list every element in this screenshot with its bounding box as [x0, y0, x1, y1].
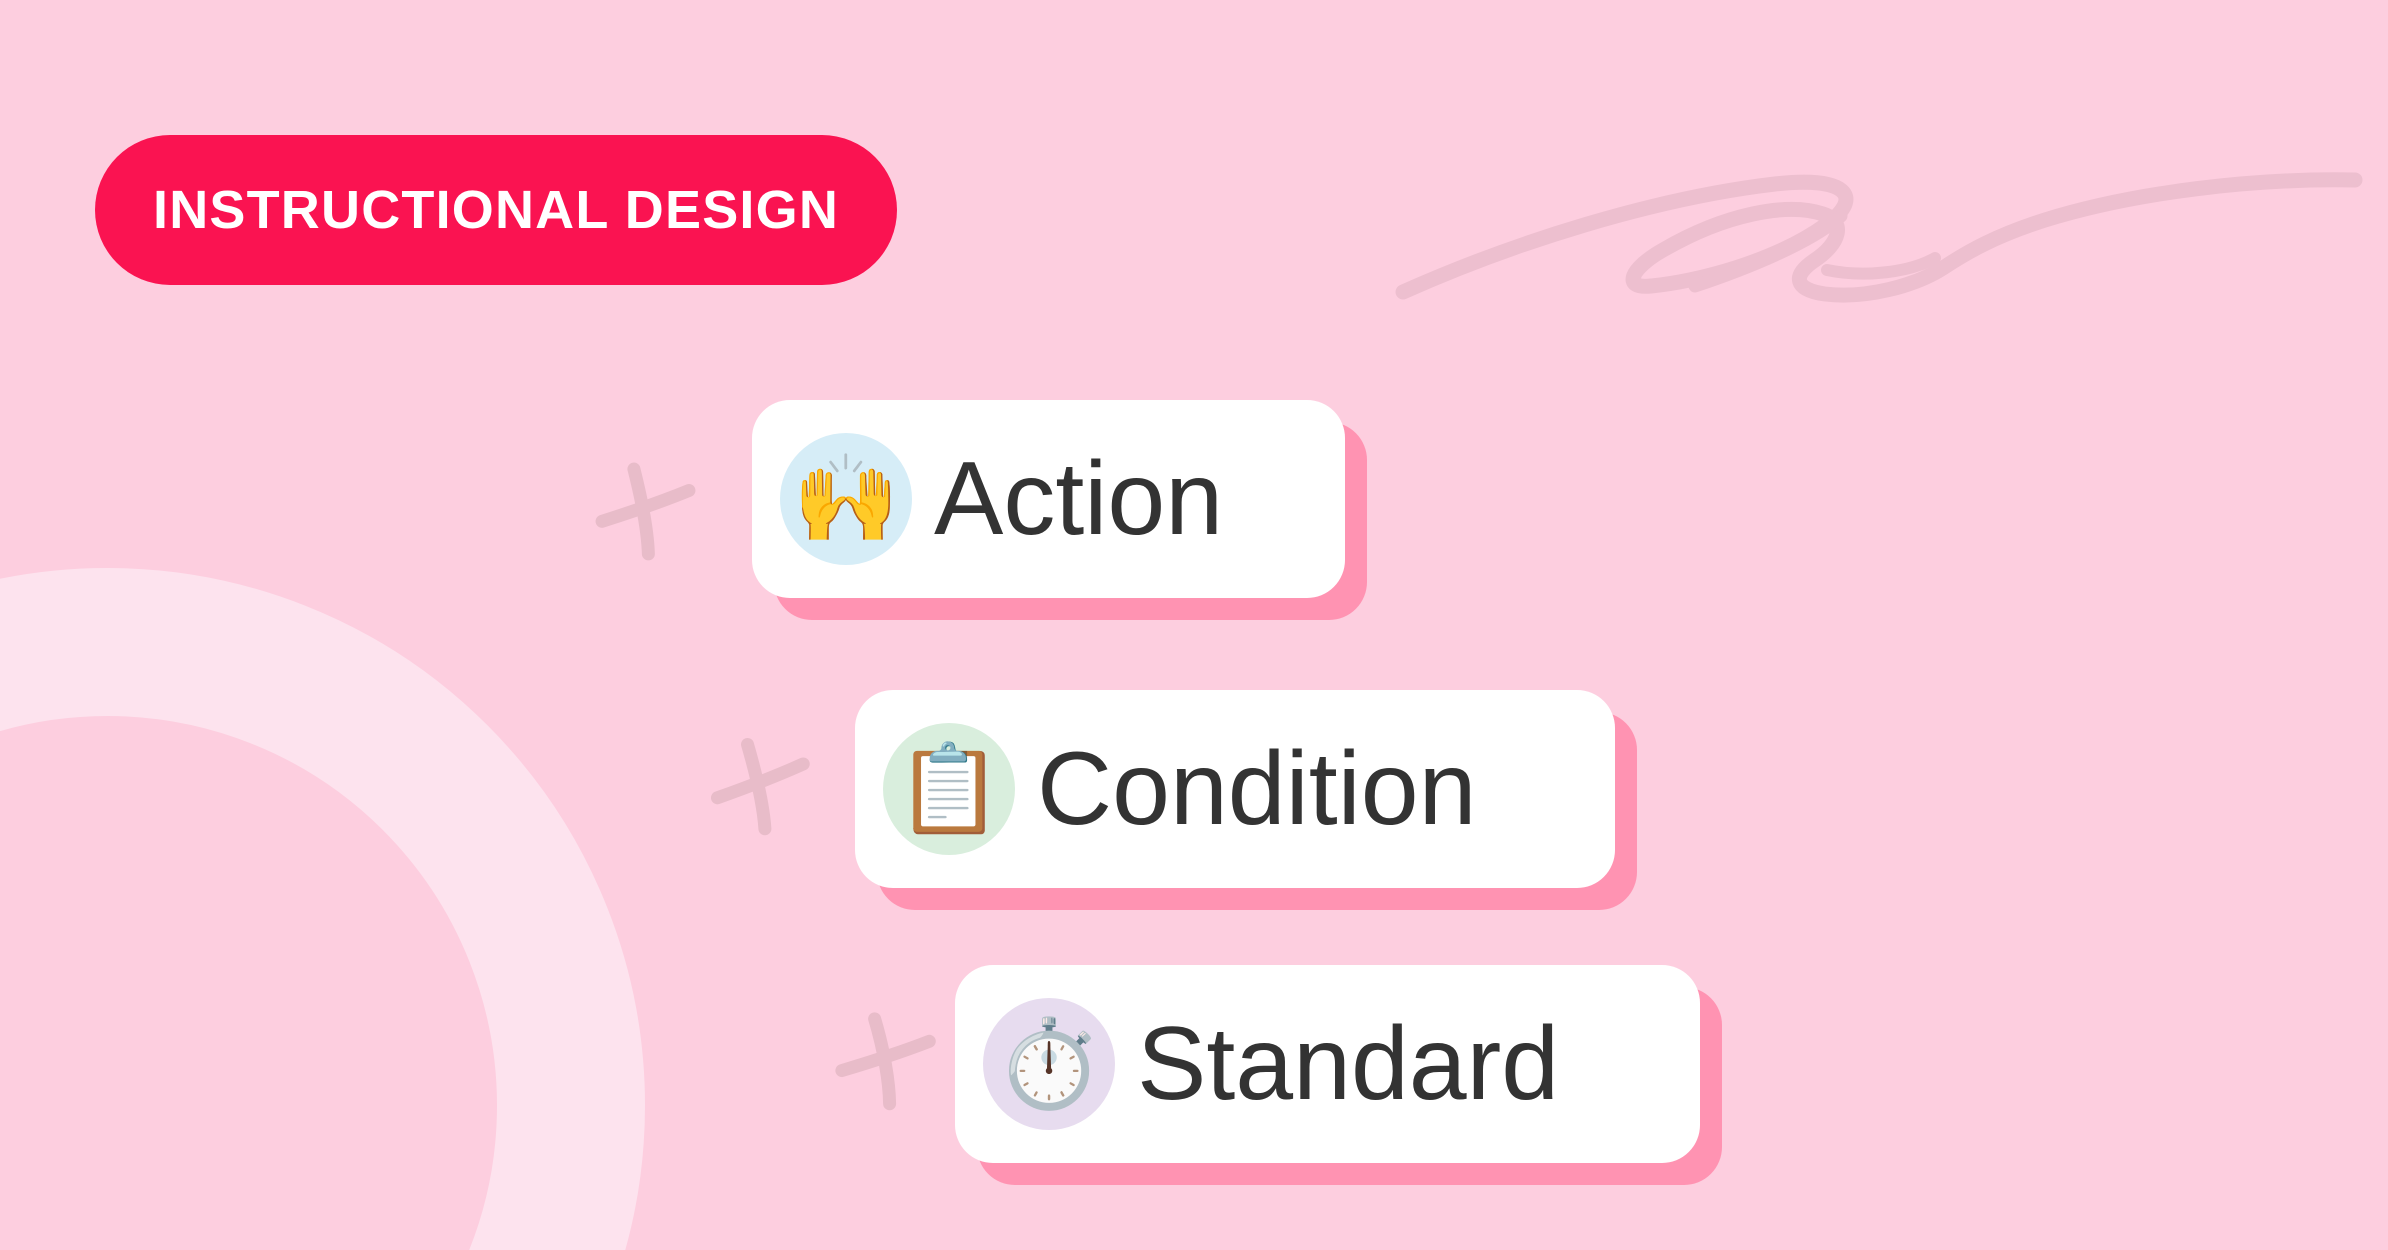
card-label: Condition	[1037, 737, 1476, 841]
card-surface[interactable]: ⏱️ Standard	[955, 965, 1700, 1163]
card-label: Standard	[1137, 1012, 1559, 1116]
card-surface[interactable]: 🙌 Action	[752, 400, 1345, 598]
clipboard-emoji-glyph: 📋	[895, 746, 1002, 832]
plus-mark-icon	[819, 994, 951, 1126]
stopwatch-emoji-icon: ⏱️	[983, 998, 1115, 1130]
card-action[interactable]: 🙌 Action	[752, 400, 1345, 598]
card-label: Action	[934, 447, 1223, 551]
category-badge[interactable]: INSTRUCTIONAL DESIGN	[95, 135, 897, 285]
decorative-arc-ring	[0, 568, 645, 1250]
plus-mark-icon	[691, 716, 828, 853]
card-surface[interactable]: 📋 Condition	[855, 690, 1615, 888]
category-badge-label: INSTRUCTIONAL DESIGN	[153, 183, 839, 237]
card-standard[interactable]: ⏱️ Standard	[955, 965, 1700, 1163]
stopwatch-emoji-glyph: ⏱️	[995, 1021, 1102, 1107]
raising-hands-emoji-glyph: 🙌	[792, 456, 899, 542]
hand-drawn-squiggle-flourish	[1395, 150, 2388, 310]
card-condition[interactable]: 📋 Condition	[855, 690, 1615, 888]
clipboard-emoji-icon: 📋	[883, 723, 1015, 855]
raising-hands-emoji-icon: 🙌	[780, 433, 912, 565]
plus-mark-icon	[578, 443, 712, 577]
slide-canvas: INSTRUCTIONAL DESIGN 🙌 Action	[0, 0, 2388, 1250]
